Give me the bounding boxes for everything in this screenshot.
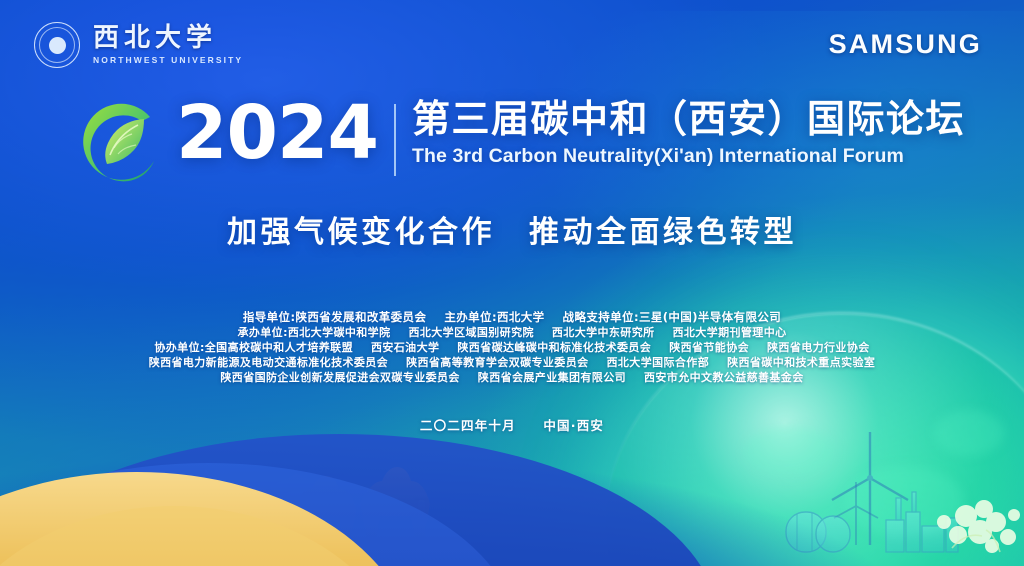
event-date: 二〇二四年十月 — [420, 418, 516, 433]
organization-entry: 西安石油大学 — [371, 341, 439, 354]
organization-entry: 协办单位:全国高校碳中和人才培养联盟 — [154, 341, 353, 354]
organization-entry: 陕西省高等教育学会双碳专业委员会 — [406, 356, 588, 369]
slogan-part-2: 推动全面绿色转型 — [529, 215, 797, 250]
title-divider — [394, 104, 396, 176]
organization-row-4: 陕西省电力新能源及电动交通标准化技术委员会陕西省高等教育学会双碳专业委员会西北大… — [0, 355, 1024, 370]
seal-core — [49, 37, 66, 54]
organization-entry: 西北大学国际合作部 — [607, 356, 710, 369]
forum-title-block: 2024 第三届碳中和（西安）国际论坛 The 3rd Carbon Neutr… — [176, 98, 965, 176]
organization-entry: 陕西省节能协会 — [669, 341, 749, 354]
university-wordmark: 西北大学 NORTHWEST UNIVERSITY — [93, 25, 243, 65]
organization-entry: 指导单位:陕西省发展和改革委员会 — [243, 310, 427, 324]
event-datebar: 二〇二四年十月 中国·西安 — [0, 415, 1024, 434]
organization-entry: 陕西省碳达峰碳中和标准化技术委员会 — [457, 341, 651, 354]
organization-entry: 西北大学期刊管理中心 — [673, 326, 787, 339]
samsung-logo: SAMSUNG — [829, 29, 982, 60]
forum-title-cn: 第三届碳中和（西安）国际论坛 — [412, 98, 965, 141]
organization-row-2: 承办单位:西北大学碳中和学院西北大学区域国别研究院西北大学中东研究所西北大学期刊… — [0, 325, 1024, 340]
forum-slogan: 加强气候变化合作 推动全面绿色转型 — [0, 207, 1024, 251]
organization-row-1: 指导单位:陕西省发展和改革委员会主办单位:西北大学战略支持单位:三星(中国)半导… — [0, 310, 1024, 325]
organization-entry: 陕西省电力行业协会 — [767, 341, 870, 354]
event-location: 中国·西安 — [543, 418, 604, 433]
organization-entry: 承办单位:西北大学碳中和学院 — [237, 326, 390, 339]
organization-entry: 陕西省国防企业创新发展促进会双碳专业委员会 — [220, 371, 459, 384]
university-name-en: NORTHWEST UNIVERSITY — [93, 56, 243, 65]
organization-entry: 陕西省碳中和技术重点实验室 — [727, 356, 875, 369]
northwest-university-logo: 西北大学 NORTHWEST UNIVERSITY — [34, 22, 243, 68]
university-seal-icon — [34, 22, 80, 68]
title-text-stack: 第三届碳中和（西安）国际论坛 The 3rd Carbon Neutrality… — [412, 98, 965, 168]
organization-list: 指导单位:陕西省发展和改革委员会主办单位:西北大学战略支持单位:三星(中国)半导… — [0, 310, 1024, 385]
organization-entry: 西北大学中东研究所 — [552, 326, 655, 339]
organization-entry: 主办单位:西北大学 — [444, 310, 544, 324]
green-leaf-circle-emblem — [74, 101, 166, 189]
organization-row-5: 陕西省国防企业创新发展促进会双碳专业委员会陕西省会展产业集团有限公司西安市允中文… — [0, 370, 1024, 385]
forum-year: 2024 — [176, 98, 378, 169]
organization-entry: 陕西省电力新能源及电动交通标准化技术委员会 — [149, 356, 388, 369]
conference-poster: 西北大学 NORTHWEST UNIVERSITY SAMSUNG 2024 — [0, 0, 1024, 566]
university-name-cn: 西北大学 — [93, 25, 243, 51]
organization-entry: 陕西省会展产业集团有限公司 — [478, 371, 626, 384]
organization-entry: 西北大学区域国别研究院 — [408, 326, 533, 339]
organization-entry: 战略支持单位:三星(中国)半导体有限公司 — [563, 310, 782, 324]
organization-row-3: 协办单位:全国高校碳中和人才培养联盟西安石油大学陕西省碳达峰碳中和标准化技术委员… — [0, 340, 1024, 355]
organization-entry: 西安市允中文教公益慈善基金会 — [644, 371, 804, 384]
forum-title-en: The 3rd Carbon Neutrality(Xi'an) Interna… — [412, 145, 965, 168]
slogan-part-1: 加强气候变化合作 — [227, 215, 495, 250]
